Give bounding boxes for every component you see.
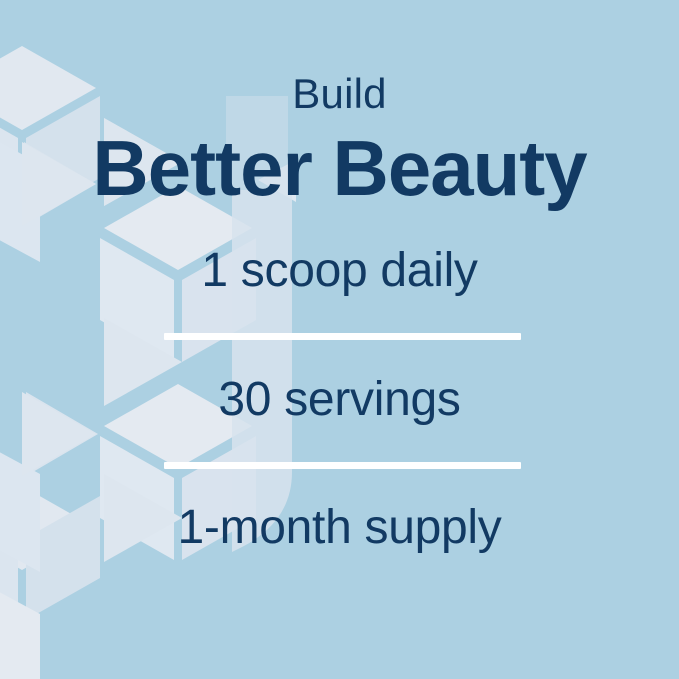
- divider-2: [164, 462, 521, 469]
- fact-supply-duration: 1-month supply: [0, 500, 679, 556]
- fact-serving-size: 1 scoop daily: [0, 243, 679, 299]
- fact-servings-count: 30 servings: [0, 372, 679, 428]
- page-title: Better Beauty: [0, 126, 679, 210]
- divider-1: [164, 333, 521, 340]
- eyebrow-text: Build: [0, 70, 679, 118]
- promo-graphic: Build Better Beauty 1 scoop daily 30 ser…: [0, 0, 679, 679]
